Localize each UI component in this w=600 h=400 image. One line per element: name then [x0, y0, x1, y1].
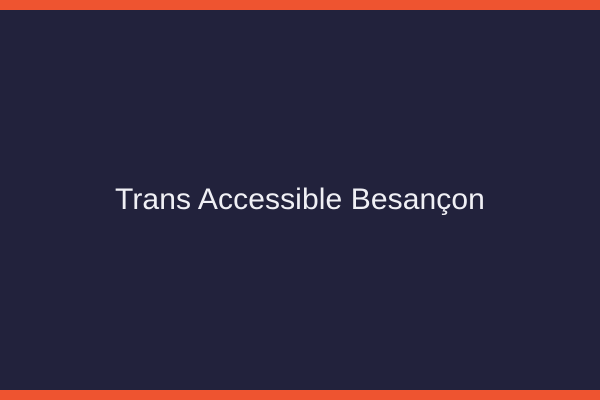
title-block: Trans Accessible Besançon: [0, 183, 600, 218]
placeholder-card: Trans Accessible Besançon: [0, 0, 600, 400]
page-title: Trans Accessible Besançon: [115, 183, 485, 218]
